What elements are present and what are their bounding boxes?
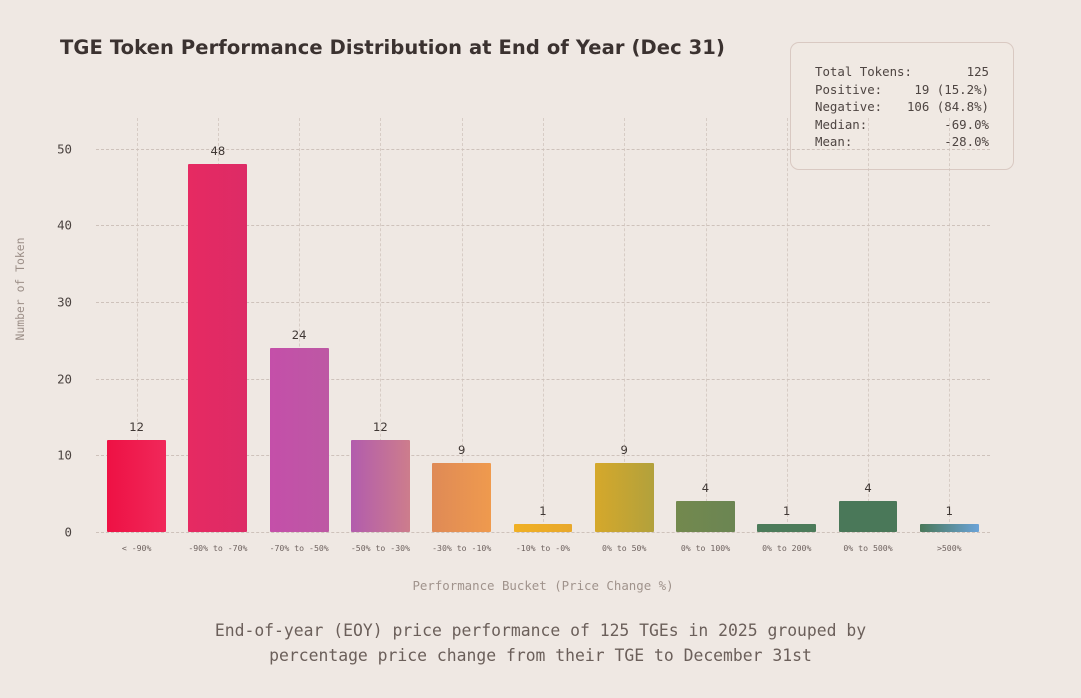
x-tick-label: -50% to -30% (340, 543, 421, 553)
y-tick-label: 10 (57, 448, 72, 463)
bar-value-label: 9 (621, 443, 628, 457)
x-tick-label: 0% to 200% (746, 543, 827, 553)
bar-slot[interactable]: 9 (584, 118, 665, 532)
x-tick-label: 0% to 50% (584, 543, 665, 553)
y-axis-label: Number of Token (13, 209, 27, 369)
bar-value-label: 4 (864, 481, 871, 495)
bar-slot[interactable]: 1 (502, 118, 583, 532)
bar-value-label: 9 (458, 443, 465, 457)
stat-label: Total Tokens: (815, 63, 912, 81)
bar-slot[interactable]: 48 (177, 118, 258, 532)
bar[interactable] (595, 463, 654, 532)
plot-area: 124824129194141 (96, 118, 990, 532)
page-title: TGE Token Performance Distribution at En… (60, 36, 725, 59)
stat-label: Positive: (815, 81, 882, 99)
y-tick-label: 20 (57, 371, 72, 386)
bar[interactable] (351, 440, 410, 532)
bar-slot[interactable]: 9 (421, 118, 502, 532)
bar-slot[interactable]: 1 (909, 118, 990, 532)
bar[interactable] (188, 164, 247, 532)
stat-row-total-tokens: Total Tokens: 125 (815, 63, 989, 81)
x-axis: < -90%-90% to -70%-70% to -50%-50% to -3… (96, 543, 990, 553)
bar-slot[interactable]: 24 (259, 118, 340, 532)
x-tick-label: -90% to -70% (177, 543, 258, 553)
x-tick-label: >500% (909, 543, 990, 553)
bar[interactable] (270, 348, 329, 532)
y-tick-label: 40 (57, 218, 72, 233)
bar-slot[interactable]: 4 (665, 118, 746, 532)
bar[interactable] (432, 463, 491, 532)
chart-caption: End-of-year (EOY) price performance of 1… (0, 618, 1081, 668)
stat-row-negative: Negative: 106 (84.8%) (815, 98, 989, 116)
stat-value: 106 (84.8%) (907, 98, 989, 116)
y-tick-label: 0 (65, 525, 72, 540)
bar[interactable] (676, 501, 735, 532)
stat-value: 125 (967, 63, 989, 81)
bar-value-label: 12 (373, 420, 388, 434)
y-tick-label: 30 (57, 295, 72, 310)
bar[interactable] (514, 524, 573, 532)
bar-slot[interactable]: 1 (746, 118, 827, 532)
bar-slot[interactable]: 4 (827, 118, 908, 532)
stat-row-positive: Positive: 19 (15.2%) (815, 81, 989, 99)
bar-value-label: 1 (539, 504, 546, 518)
x-tick-label: 0% to 100% (665, 543, 746, 553)
bar[interactable] (107, 440, 166, 532)
y-tick-label: 50 (57, 141, 72, 156)
x-tick-label: -10% to -0% (502, 543, 583, 553)
gridline-horizontal (96, 532, 990, 533)
bar-series: 124824129194141 (96, 118, 990, 532)
bar-slot[interactable]: 12 (340, 118, 421, 532)
x-tick-label: 0% to 500% (827, 543, 908, 553)
x-tick-label: -70% to -50% (259, 543, 340, 553)
bar-value-label: 1 (783, 504, 790, 518)
bar-value-label: 1 (946, 504, 953, 518)
bar-value-label: 24 (292, 328, 307, 342)
bar[interactable] (757, 524, 816, 532)
caption-line-2: percentage price change from their TGE t… (0, 643, 1081, 668)
x-axis-label: Performance Bucket (Price Change %) (96, 578, 990, 593)
x-tick-label: < -90% (96, 543, 177, 553)
bar-value-label: 48 (211, 144, 226, 158)
bar-slot[interactable]: 12 (96, 118, 177, 532)
bar[interactable] (839, 501, 898, 532)
bar-value-label: 12 (129, 420, 144, 434)
bar-value-label: 4 (702, 481, 709, 495)
caption-line-1: End-of-year (EOY) price performance of 1… (0, 618, 1081, 643)
x-tick-label: -30% to -10% (421, 543, 502, 553)
stat-value: 19 (15.2%) (914, 81, 989, 99)
bar[interactable] (920, 524, 979, 532)
stat-label: Negative: (815, 98, 882, 116)
